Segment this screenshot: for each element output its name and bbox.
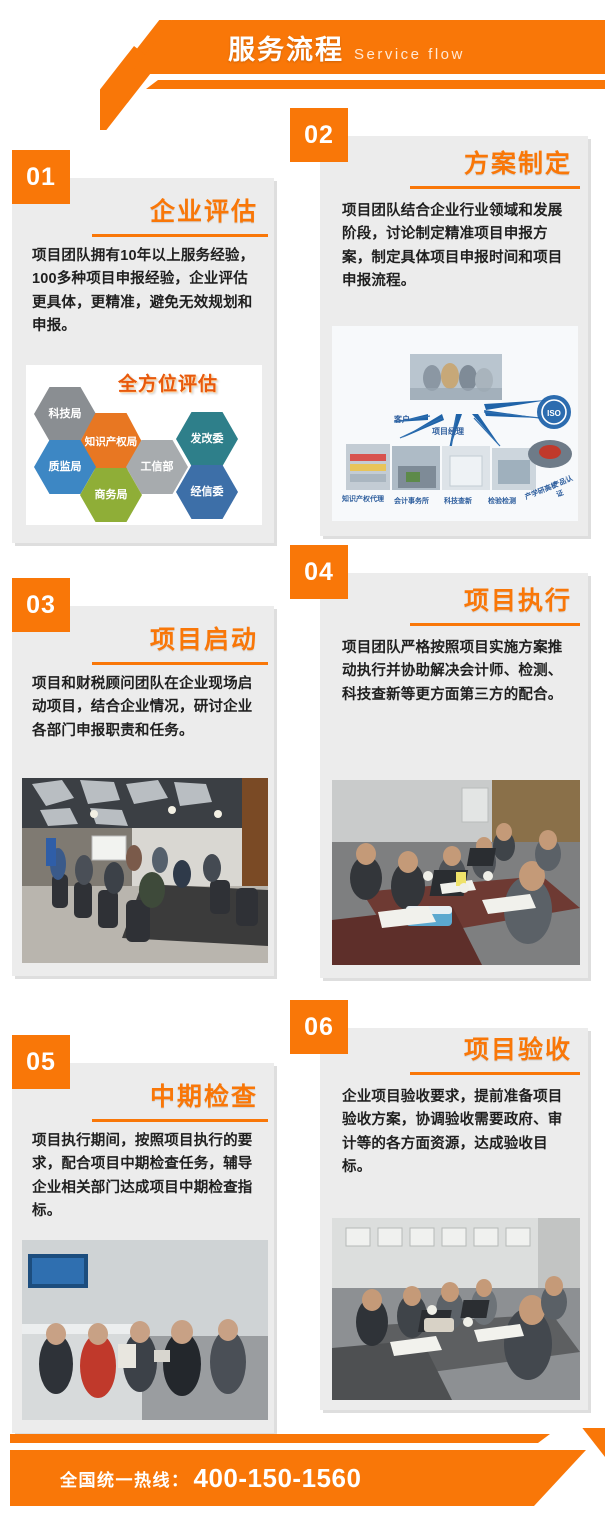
card-title-underline xyxy=(410,186,580,189)
card-title: 项目启动 xyxy=(72,620,268,656)
header-banner: 服务流程 Service flow xyxy=(130,20,605,74)
one-stop-label-novelty: 科技查新 xyxy=(444,496,472,506)
process-card-04[interactable]: 04 项目执行 项目团队严格按照项目实施方案推动执行并协助解决会计师、检测、科技… xyxy=(290,545,593,980)
page-header: 服务流程 Service flow xyxy=(0,0,605,120)
header-stripe xyxy=(146,80,605,89)
hexagon-diagram: 全方位评估 科技局 知识产权局 质监局 工信部 商务局 发改委 经信委 xyxy=(26,365,262,525)
card-title: 方案制定 xyxy=(390,144,580,180)
photo-graphic xyxy=(22,778,268,963)
header-title-cn: 服务流程 xyxy=(228,28,344,67)
process-card-06[interactable]: 06 项目验收 企业项目验收要求，提前准备项目验收方案，协调验收需要政府、审计等… xyxy=(290,1000,593,1410)
card-title-underline xyxy=(410,1072,580,1075)
hexagon-fagaiwei: 发改委 xyxy=(176,412,238,466)
svg-text:ISO: ISO xyxy=(547,409,561,418)
card-description: 企业项目验收要求，提前准备项目验收方案，协调验收需要政府、审计等的各方面资源，达… xyxy=(342,1086,577,1180)
card-description: 项目和财税顾问团队在企业现场启动项目，结合企业情况，研讨企业各部门申报职责和任务… xyxy=(32,673,262,743)
photo-graphic xyxy=(22,1240,268,1420)
process-card-01[interactable]: 01 企业评估 项目团队拥有10年以上服务经验，100多种项目申报经验，企业评估… xyxy=(12,150,277,545)
process-card-02[interactable]: 02 方案制定 项目团队结合企业行业领域和发展阶段，讨论制定精准项目申报方案，制… xyxy=(290,108,593,538)
card-title-underline xyxy=(92,234,268,237)
card-number-badge: 04 xyxy=(290,545,348,599)
card-description: 项目团队拥有10年以上服务经验，100多种项目申报经验，企业评估更具体，更精准，… xyxy=(32,245,262,339)
one-stop-node-manager: 项目经理 xyxy=(432,426,464,437)
one-stop-service-diagram: 一站式服务 xyxy=(332,326,578,521)
hexagon-label: 知识产权局 xyxy=(85,436,138,448)
one-stop-label-accounting: 会计事务所 xyxy=(394,496,429,506)
one-stop-label-inspection: 检验检测 xyxy=(488,496,516,506)
photo-graphic xyxy=(332,780,580,965)
card-title: 项目执行 xyxy=(390,581,580,617)
card-title: 企业评估 xyxy=(72,192,268,228)
card-photo-boardroom xyxy=(22,778,268,963)
card-title-underline xyxy=(92,1119,268,1122)
card-title: 中期检查 xyxy=(72,1077,268,1113)
page-footer: 全国统一热线： 400-150-1560 xyxy=(0,1428,605,1538)
one-stop-label-ip: 知识产权代理 xyxy=(342,494,384,504)
hotline-label: 全国统一热线： xyxy=(60,1466,190,1491)
card-description: 项目团队结合企业行业领域和发展阶段，讨论制定精准项目申报方案，制定具体项目申报时… xyxy=(342,200,577,294)
card-title: 项目验收 xyxy=(390,1030,580,1066)
card-description: 项目执行期间，按照项目执行的要求，配合项目中期检查任务，辅导企业相关部门达成项目… xyxy=(32,1130,262,1224)
card-number-badge: 05 xyxy=(12,1035,70,1089)
hexagon-diagram-title: 全方位评估 xyxy=(118,369,218,396)
card-photo-lobby-visit xyxy=(22,1240,268,1420)
hotline-number[interactable]: 400-150-1560 xyxy=(194,1463,362,1494)
photo-graphic xyxy=(332,1218,580,1400)
card-title-underline xyxy=(92,662,268,665)
process-card-03[interactable]: 03 项目启动 项目和财税顾问团队在企业现场启动项目，结合企业情况，研讨企业各部… xyxy=(12,578,277,978)
card-photo-worksession xyxy=(332,780,580,965)
hexagon-jingxinwei: 经信委 xyxy=(176,465,238,519)
card-number-badge: 02 xyxy=(290,108,348,162)
card-description: 项目团队严格按照项目实施方案推动执行并协助解决会计师、检测、科技查新等更方面第三… xyxy=(342,637,577,707)
footer-chevron-accent xyxy=(430,1428,605,1538)
card-number-badge: 03 xyxy=(12,578,70,632)
header-title-en: Service flow xyxy=(354,46,465,63)
card-number-badge: 06 xyxy=(290,1000,348,1054)
card-number-badge: 01 xyxy=(12,150,70,204)
card-photo-acceptance-meeting xyxy=(332,1218,580,1400)
card-title-underline xyxy=(410,623,580,626)
process-card-05[interactable]: 05 中期检查 项目执行期间，按照项目执行的要求，配合项目中期检查任务，辅导企业… xyxy=(12,1035,277,1435)
one-stop-node-customer: 客户 xyxy=(394,414,410,425)
